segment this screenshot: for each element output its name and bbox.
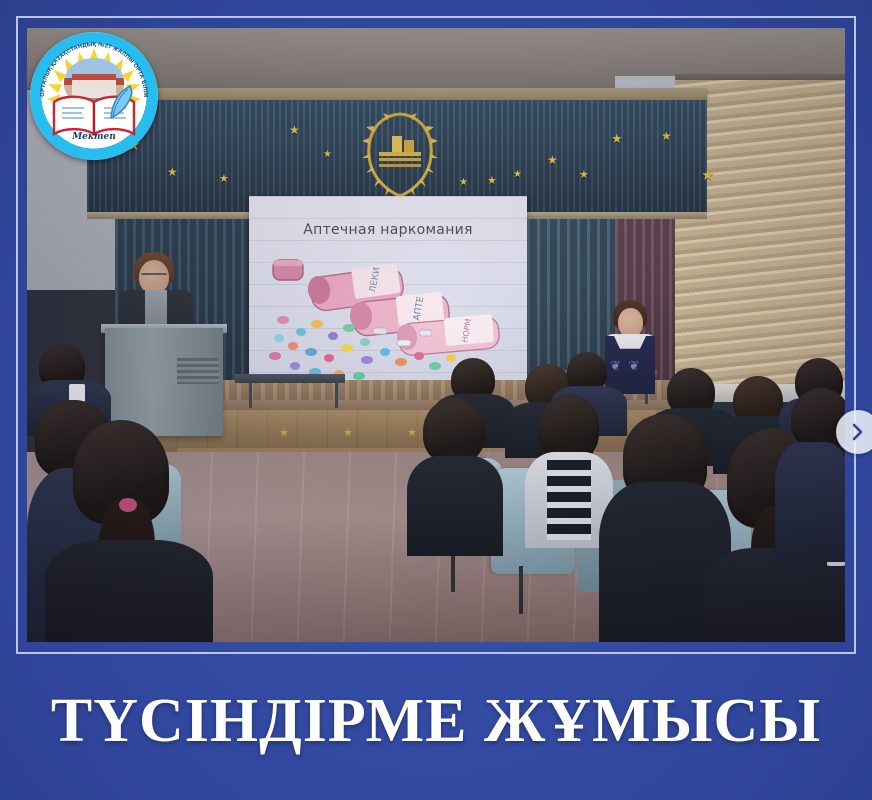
social-post-slide: ★ ★ ★ ★ ★ ★ ★ ★ ★ ★ ★ ★ ★ bbox=[0, 0, 872, 800]
carousel-next-button[interactable] bbox=[836, 410, 872, 454]
page-title: ТҮСІНДІРМЕ ЖҰМЫСЫ bbox=[0, 690, 872, 752]
school-logo: АҚТӨБЕ ОБЛЫСЫ ОРТАЛЫҚ ҚАЗАҚСТАНДЫҚ №27 Ж… bbox=[30, 32, 158, 160]
chevron-right-icon bbox=[849, 423, 867, 441]
logo-script-text: Мектеп bbox=[30, 132, 158, 142]
quill-pen-icon bbox=[108, 84, 136, 124]
